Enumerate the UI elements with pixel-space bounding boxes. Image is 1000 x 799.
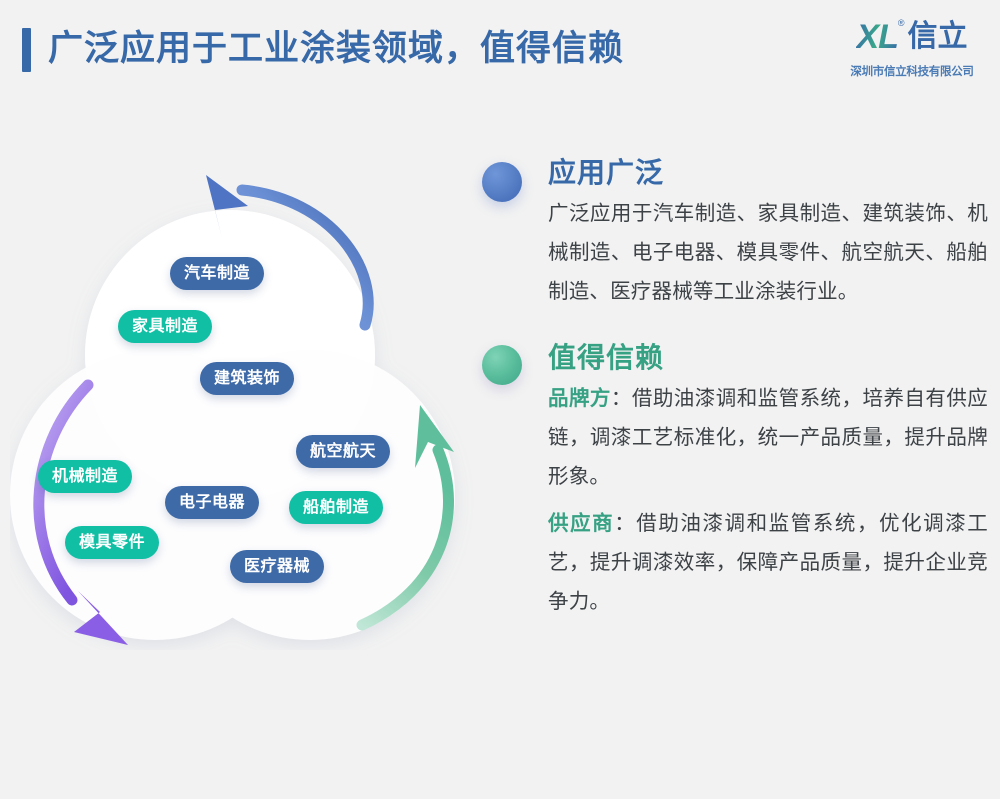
registered-trademark-icon: ®	[898, 18, 905, 28]
section-paragraph-wide-application: 广泛应用于汽车制造、家具制造、建筑装饰、机械制造、电子电器、模具零件、航空航天、…	[548, 194, 988, 311]
title-accent-bar	[22, 28, 31, 72]
tag-shipbuilding[interactable]: 船舶制造	[289, 491, 383, 524]
lead-brand-owner: 品牌方	[548, 387, 611, 410]
text-supplier: ：借助油漆调和监管系统，优化调漆工艺，提升调漆效率，保障产品质量，提升企业竞争力…	[548, 512, 988, 613]
bullet-dot-icon-blue	[482, 162, 522, 202]
bullet-dot-icon-green	[482, 345, 522, 385]
company-logo: XL®信立 深圳市信立科技有限公司	[846, 16, 978, 88]
section-heading-wide-application: 应用广泛	[548, 152, 988, 194]
tag-medical-devices[interactable]: 医疗器械	[230, 550, 324, 583]
text-brand-owner: ：借助油漆调和监管系统，培养自有供应链，调漆工艺标准化，统一产品质量，提升品牌形…	[548, 387, 988, 488]
page-header: 广泛应用于工业涂装领域，值得信赖 XL®信立 深圳市信立科技有限公司	[0, 0, 1000, 108]
logo-brand-cn: 信立	[908, 20, 968, 53]
tag-architectural-decoration[interactable]: 建筑装饰	[200, 362, 294, 395]
tag-mold-parts[interactable]: 模具零件	[65, 526, 159, 559]
tag-furniture-manufacturing[interactable]: 家具制造	[118, 310, 212, 343]
logo-xl-mark: XL	[856, 18, 897, 56]
logo-company-name: 深圳市信立科技有限公司	[846, 63, 978, 79]
page-title: 广泛应用于工业涂装领域，值得信赖	[48, 22, 624, 76]
tag-electronic-appliances[interactable]: 电子电器	[165, 486, 259, 519]
tag-automotive-manufacturing[interactable]: 汽车制造	[170, 257, 264, 290]
paragraph-supplier: 供应商：借助油漆调和监管系统，优化调漆工艺，提升调漆效率，保障产品质量，提升企业…	[548, 504, 988, 621]
section-spacer	[482, 311, 988, 337]
tag-aerospace[interactable]: 航空航天	[296, 435, 390, 468]
paragraph-brand-owner: 品牌方：借助油漆调和监管系统，培养自有供应链，调漆工艺标准化，统一产品质量，提升…	[548, 379, 988, 496]
venn-diagram: 汽车制造 家具制造 建筑装饰 航空航天 机械制造 电子电器 船舶制造 模具零件 …	[10, 150, 480, 650]
section-trustworthy: 值得信赖 品牌方：借助油漆调和监管系统，培养自有供应链，调漆工艺标准化，统一产品…	[482, 337, 988, 621]
lead-supplier: 供应商	[548, 512, 614, 535]
section-wide-application: 应用广泛 广泛应用于汽车制造、家具制造、建筑装饰、机械制造、电子电器、模具零件、…	[482, 152, 988, 311]
content-column: 应用广泛 广泛应用于汽车制造、家具制造、建筑装饰、机械制造、电子电器、模具零件、…	[482, 152, 988, 621]
section-heading-trustworthy: 值得信赖	[548, 337, 988, 379]
logo-wordmark: XL®信立	[846, 16, 978, 58]
tag-machinery-manufacturing[interactable]: 机械制造	[38, 460, 132, 493]
